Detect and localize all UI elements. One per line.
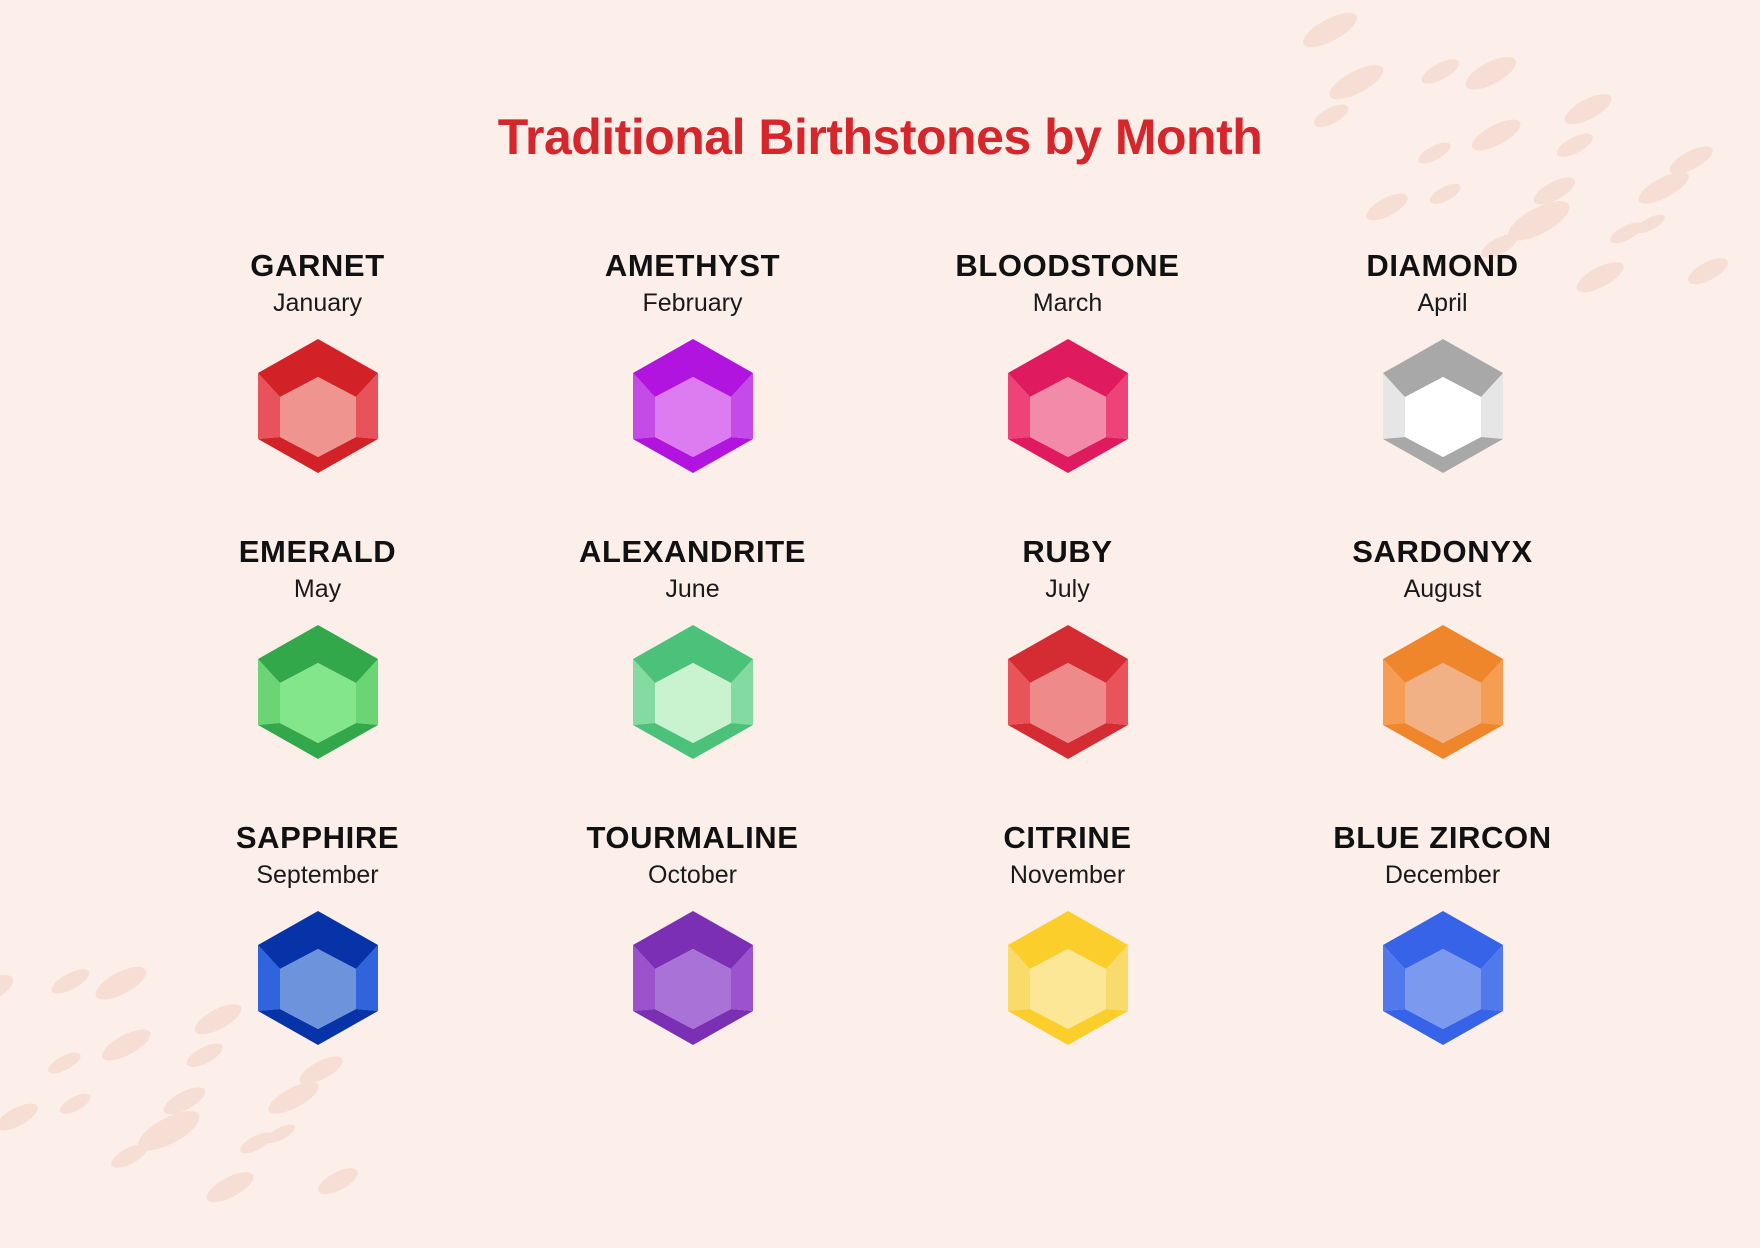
stone-name: GARNET — [250, 250, 385, 283]
birthstone-card: EMERALDMay — [130, 536, 505, 822]
birthstone-card: DIAMONDApril — [1255, 250, 1630, 536]
birthstone-card: ALEXANDRITEJune — [505, 536, 880, 822]
birthstone-card: CITRINENovember — [880, 822, 1255, 1108]
gem-hexagon-icon — [631, 337, 755, 475]
birthstone-grid: GARNETJanuary AMETHYSTFebruary BLOODSTON… — [130, 250, 1630, 1108]
stone-name: AMETHYST — [605, 250, 780, 283]
birthstone-card: SAPPHIRESeptember — [130, 822, 505, 1108]
gem-hexagon-icon — [1006, 909, 1130, 1047]
birthstone-card: GARNETJanuary — [130, 250, 505, 536]
stone-name: EMERALD — [239, 536, 396, 569]
stone-name: ALEXANDRITE — [579, 536, 806, 569]
gem-hexagon-icon — [631, 909, 755, 1047]
stone-month: April — [1417, 290, 1467, 318]
birthstone-card: BLUE ZIRCONDecember — [1255, 822, 1630, 1108]
stone-name: CITRINE — [1003, 822, 1131, 855]
stone-month: December — [1385, 862, 1500, 890]
stone-month: May — [294, 576, 341, 604]
stone-month: September — [256, 862, 378, 890]
stone-month: October — [648, 862, 737, 890]
stone-month: June — [665, 576, 719, 604]
page-title: Traditional Birthstones by Month — [0, 108, 1760, 166]
stone-month: February — [642, 290, 742, 318]
birthstone-card: SARDONYXAugust — [1255, 536, 1630, 822]
stone-name: SAPPHIRE — [236, 822, 399, 855]
stone-month: January — [273, 290, 362, 318]
birthstone-card: RUBYJuly — [880, 536, 1255, 822]
stone-name: BLUE ZIRCON — [1333, 822, 1551, 855]
stone-name: RUBY — [1022, 536, 1112, 569]
stone-name: BLOODSTONE — [955, 250, 1179, 283]
stone-month: March — [1033, 290, 1102, 318]
gem-hexagon-icon — [256, 623, 380, 761]
gem-hexagon-icon — [1006, 337, 1130, 475]
birthstone-card: BLOODSTONEMarch — [880, 250, 1255, 536]
gem-hexagon-icon — [631, 623, 755, 761]
gem-hexagon-icon — [256, 337, 380, 475]
gem-hexagon-icon — [1381, 909, 1505, 1047]
stone-name: SARDONYX — [1352, 536, 1533, 569]
gem-hexagon-icon — [1381, 623, 1505, 761]
stone-name: TOURMALINE — [586, 822, 798, 855]
gem-hexagon-icon — [1006, 623, 1130, 761]
birthstone-card: TOURMALINEOctober — [505, 822, 880, 1108]
stone-month: August — [1404, 576, 1482, 604]
birthstone-card: AMETHYSTFebruary — [505, 250, 880, 536]
stone-month: November — [1010, 862, 1125, 890]
stone-month: July — [1045, 576, 1089, 604]
stone-name: DIAMOND — [1366, 250, 1518, 283]
gem-hexagon-icon — [256, 909, 380, 1047]
gem-hexagon-icon — [1381, 337, 1505, 475]
